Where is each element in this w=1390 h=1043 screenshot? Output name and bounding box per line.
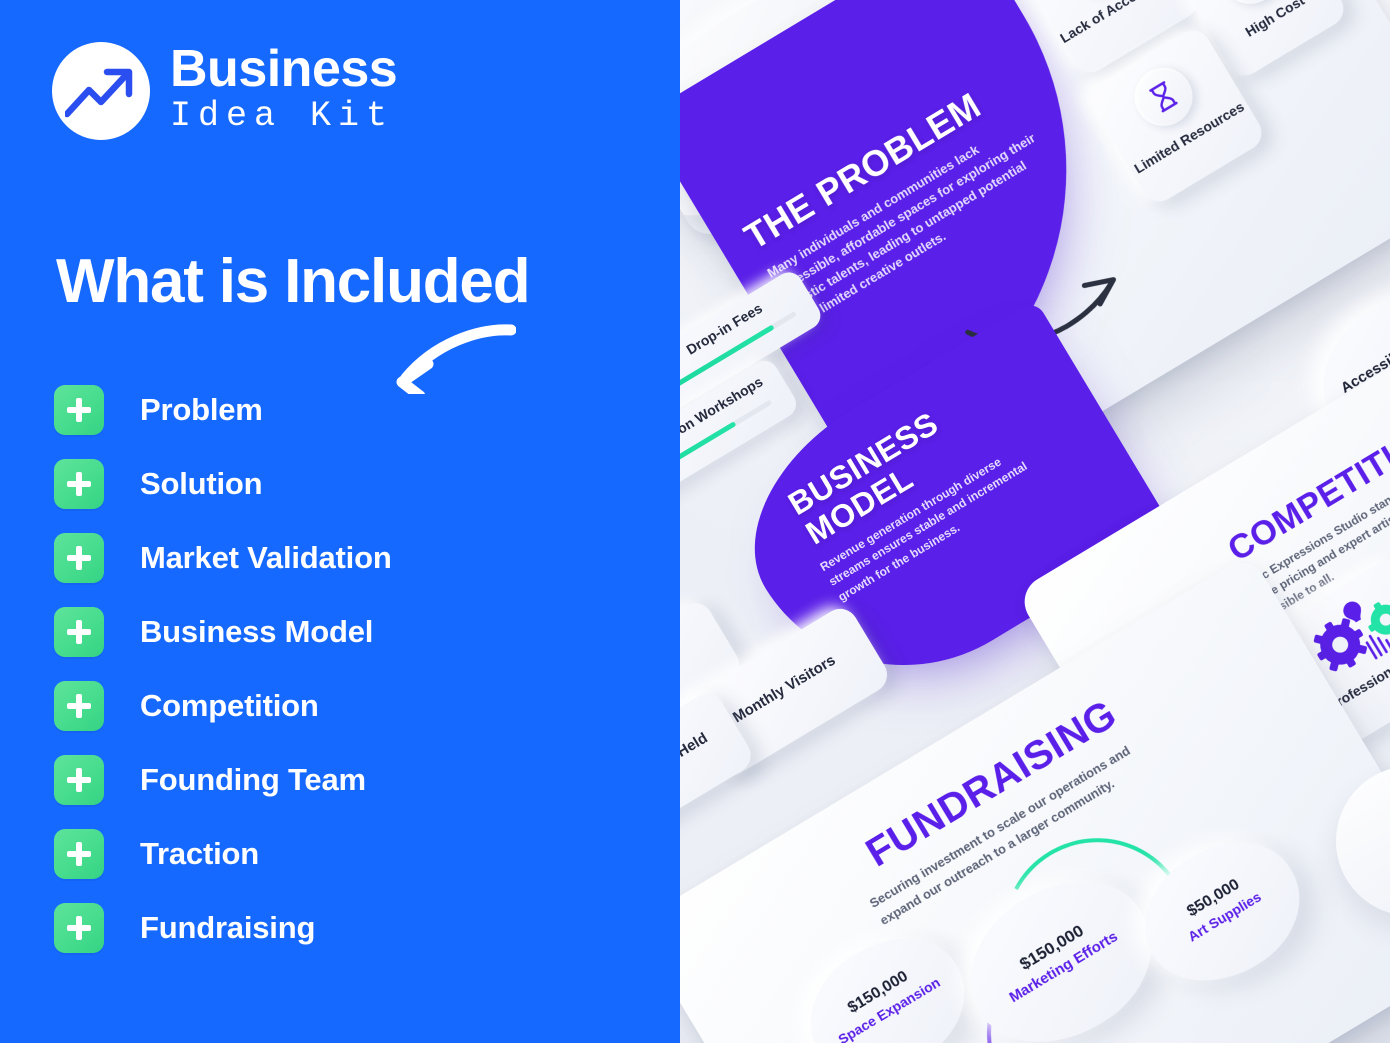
plus-icon — [54, 385, 104, 435]
problem-card-0-label: Lack of Accessibility — [1057, 0, 1184, 46]
list-item-label: Fundraising — [140, 910, 315, 946]
fundraising-alloc-1-amount: $150,000 — [965, 890, 1138, 1005]
brand-name-sub: Idea Kit — [170, 95, 397, 139]
list-item-label: Traction — [140, 836, 259, 872]
list-item[interactable]: Problem — [54, 385, 654, 435]
list-item-label: Founding Team — [140, 762, 366, 798]
plus-icon — [54, 607, 104, 657]
problem-card-1-label: High Cost — [1215, 0, 1335, 56]
list-item-label: Problem — [140, 392, 263, 428]
plus-icon — [54, 533, 104, 583]
list-item-label: Business Model — [140, 614, 373, 650]
plus-icon — [54, 829, 104, 879]
fundraising-alloc-0[interactable]: $150,000 Space Expansion — [786, 912, 989, 1043]
list-item-label: Solution — [140, 466, 262, 502]
hourglass-icon — [1124, 57, 1204, 137]
poster-canvas: THE PROBLEM Many individuals and communi… — [0, 0, 1390, 1043]
plus-icon — [54, 459, 104, 509]
brand-wordmark: Business Idea Kit — [170, 43, 397, 139]
list-item[interactable]: Fundraising — [54, 903, 654, 953]
list-item[interactable]: Business Model — [54, 607, 654, 657]
list-item[interactable]: Competition — [54, 681, 654, 731]
brand-name-top: Business — [170, 43, 397, 95]
page-title: What is Included — [56, 246, 529, 317]
plus-icon — [54, 681, 104, 731]
list-item-label: Market Validation — [140, 540, 392, 576]
list-item[interactable]: Market Validation — [54, 533, 654, 583]
list-item[interactable]: Traction — [54, 829, 654, 879]
left-info-panel: Business Idea Kit What is Included Probl… — [0, 0, 680, 1043]
list-item[interactable]: Solution — [54, 459, 654, 509]
growth-chart-arrow-icon — [52, 42, 150, 140]
plus-icon — [54, 903, 104, 953]
brand-logo: Business Idea Kit — [52, 42, 397, 140]
included-items-list: Problem Solution Market Validation Busin… — [54, 385, 654, 977]
list-item[interactable]: Founding Team — [54, 755, 654, 805]
plus-icon — [54, 755, 104, 805]
list-item-label: Competition — [140, 688, 319, 724]
